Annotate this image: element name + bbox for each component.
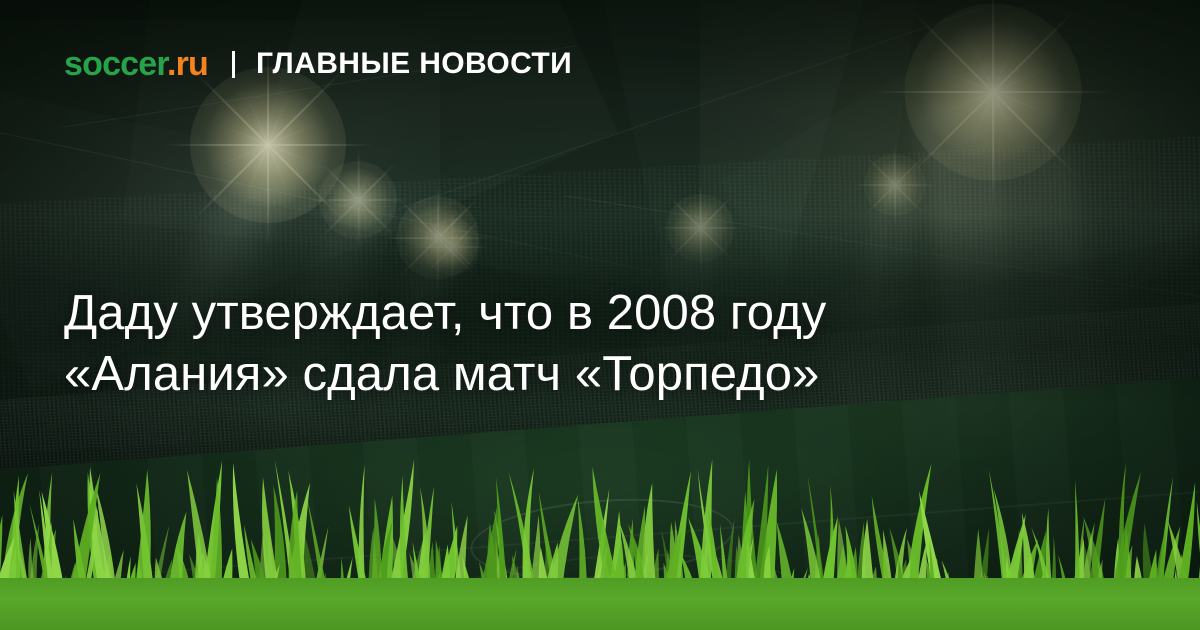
logo-word: soccer	[64, 45, 167, 83]
site-logo[interactable]: soccer.ru	[64, 47, 208, 81]
headline-line: Даду утверждает, что в 2008 году	[64, 283, 1074, 344]
news-share-card: soccer.ru ГЛАВНЫЕ НОВОСТИ Даду утверждае…	[0, 0, 1200, 630]
card-header: soccer.ru ГЛАВНЫЕ НОВОСТИ	[64, 47, 572, 81]
header-kicker: ГЛАВНЫЕ НОВОСТИ	[256, 49, 572, 79]
header-separator	[232, 51, 235, 78]
logo-tld: .ru	[167, 45, 208, 83]
headline-line: «Алания» сдала матч «Торпедо»	[64, 344, 1074, 405]
page-title: Даду утверждает, что в 2008 году «Алания…	[64, 283, 1074, 405]
